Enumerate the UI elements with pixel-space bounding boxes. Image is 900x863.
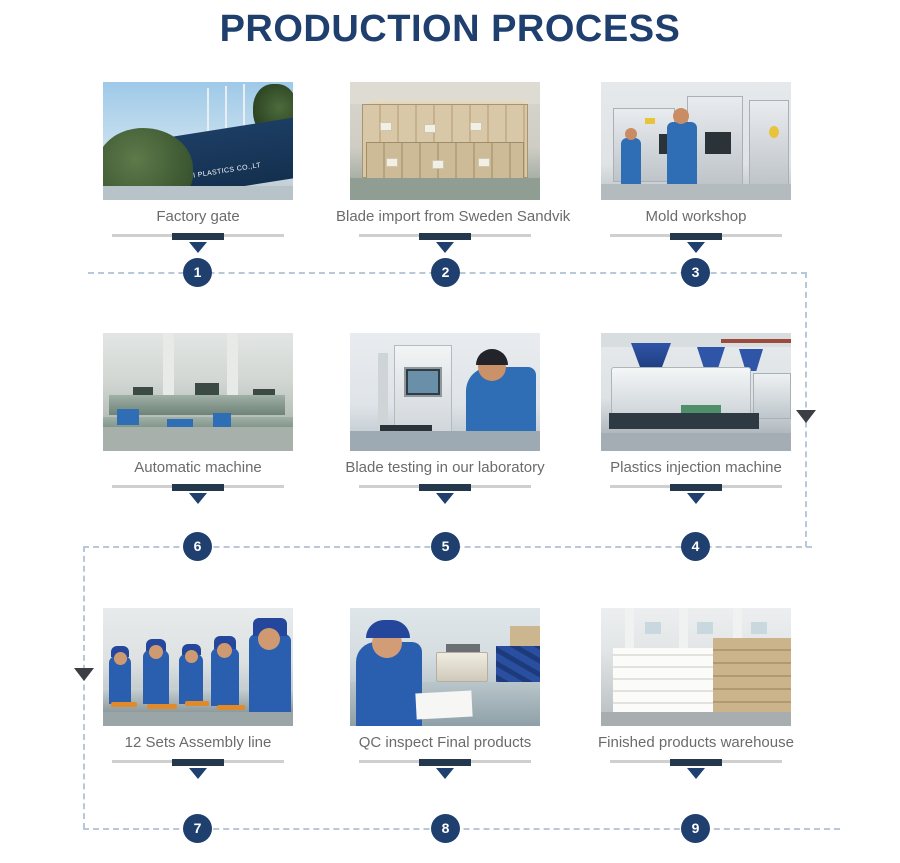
step-divider — [610, 234, 782, 237]
pillar-shape — [227, 333, 238, 403]
step-caption: Plastics injection machine — [587, 459, 805, 476]
step-badge-8[interactable]: 8 — [431, 814, 460, 843]
process-step-3[interactable]: Mold workshop — [601, 82, 791, 253]
carton-stack-shape — [613, 648, 713, 714]
step-divider — [359, 234, 531, 237]
desk-shape — [350, 431, 540, 451]
assembly-line-photo — [103, 608, 293, 726]
process-step-8[interactable]: QC inspect Final products — [350, 608, 540, 779]
process-row-1: NINGBO JIA LI PLASTICS CO.,LT Factory ga… — [0, 82, 900, 272]
step-divider — [112, 760, 284, 763]
step-arrow-icon — [436, 768, 454, 779]
inspection-form-shape — [415, 691, 472, 720]
product-part-shape — [217, 705, 245, 710]
crate-label — [380, 122, 392, 131]
crate-label — [478, 158, 490, 167]
floor-shape — [601, 433, 791, 451]
step-divider — [359, 485, 531, 488]
worker-hair-shape — [476, 349, 508, 365]
step-arrow-icon — [687, 768, 705, 779]
window-shape — [645, 622, 661, 634]
product-part-shape — [111, 702, 137, 707]
step-divider-marker — [670, 484, 722, 491]
automatic-machine-photo — [103, 333, 293, 451]
worker-head-shape — [149, 645, 163, 659]
process-step-9[interactable]: Finished products warehouse — [601, 608, 791, 779]
step-badge-2[interactable]: 2 — [431, 258, 460, 287]
step-arrow-icon — [436, 493, 454, 504]
process-step-1[interactable]: NINGBO JIA LI PLASTICS CO.,LT Factory ga… — [103, 82, 293, 253]
step-arrow-icon — [687, 493, 705, 504]
step-divider-marker — [172, 759, 224, 766]
floor-shape — [601, 184, 791, 200]
page-title: PRODUCTION PROCESS — [0, 8, 900, 51]
step-divider-marker — [670, 759, 722, 766]
weighing-scale-shape — [436, 652, 488, 682]
step-divider — [610, 760, 782, 763]
step-badge-3[interactable]: 3 — [681, 258, 710, 287]
step-divider-marker — [419, 759, 471, 766]
step-divider — [112, 485, 284, 488]
process-step-4[interactable]: Plastics injection machine — [601, 333, 791, 504]
worker-head-shape — [673, 108, 689, 124]
step-badge-1[interactable]: 1 — [183, 258, 212, 287]
parts-bin-shape — [213, 413, 231, 427]
product-part-shape — [185, 701, 209, 706]
floor-shape — [601, 712, 791, 726]
step-arrow-icon — [189, 493, 207, 504]
window-shape — [697, 622, 713, 634]
step-badge-6[interactable]: 6 — [183, 532, 212, 561]
crate-label — [424, 124, 436, 133]
step-arrow-icon — [687, 242, 705, 253]
process-step-2[interactable]: Blade import from Sweden Sandvik — [350, 82, 540, 253]
ceiling-beam-shape — [721, 339, 791, 343]
mold-workshop-photo — [601, 82, 791, 200]
process-step-5[interactable]: Blade testing in our laboratory — [350, 333, 540, 504]
process-row-3: 12 Sets Assembly line QC inspect Final p… — [0, 608, 900, 798]
worker-head-shape — [185, 650, 198, 663]
step-arrow-icon — [189, 242, 207, 253]
step-divider-marker — [172, 484, 224, 491]
step-divider-marker — [670, 233, 722, 240]
process-step-6[interactable]: Automatic machine — [103, 333, 293, 504]
step-badge-7[interactable]: 7 — [183, 814, 212, 843]
worker-shape — [667, 122, 697, 186]
worker-head-shape — [114, 652, 127, 665]
step-caption: Blade testing in our laboratory — [336, 459, 554, 476]
step-divider-marker — [172, 233, 224, 240]
window-shape — [751, 622, 767, 634]
floor-shape — [103, 712, 293, 726]
floor-shape — [350, 178, 540, 200]
worker-cap-shape — [366, 620, 410, 638]
product-part-shape — [147, 704, 177, 709]
floor-shape — [103, 427, 293, 451]
blade-import-crates-photo — [350, 82, 540, 200]
instrument-screen-display — [408, 371, 438, 393]
blade-testing-laboratory-photo — [350, 333, 540, 451]
carton-stack-shape — [713, 638, 791, 714]
process-step-7[interactable]: 12 Sets Assembly line — [103, 608, 293, 779]
step-badge-5[interactable]: 5 — [431, 532, 460, 561]
step-caption: Factory gate — [103, 208, 293, 225]
step-badge-4[interactable]: 4 — [681, 532, 710, 561]
step-caption: Automatic machine — [103, 459, 293, 476]
step-caption: QC inspect Final products — [336, 734, 554, 751]
finished-products-warehouse-photo — [601, 608, 791, 726]
process-row-2: Automatic machine Blade testing in our l… — [0, 333, 900, 523]
worker-head-shape — [258, 628, 280, 650]
step-caption: Mold workshop — [601, 208, 791, 225]
step-caption: 12 Sets Assembly line — [103, 734, 293, 751]
parts-bin-shape — [117, 409, 139, 425]
step-divider — [112, 234, 284, 237]
plastics-injection-machine-photo — [601, 333, 791, 451]
worker-shape — [621, 138, 641, 186]
step-badge-9[interactable]: 9 — [681, 814, 710, 843]
step-caption: Blade import from Sweden Sandvik — [336, 208, 554, 225]
crate-label — [386, 158, 398, 167]
step-divider — [359, 760, 531, 763]
machine-accent — [769, 126, 779, 138]
step-divider-marker — [419, 233, 471, 240]
cnc-machine-shape — [749, 100, 789, 186]
pillar-shape — [679, 608, 688, 652]
ground-shape — [103, 186, 293, 200]
machine-screen — [705, 132, 731, 154]
step-arrow-icon — [189, 768, 207, 779]
factory-gate-photo: NINGBO JIA LI PLASTICS CO.,LT — [103, 82, 293, 200]
worker-head-shape — [217, 643, 232, 658]
crate-label — [432, 160, 444, 169]
qc-inspection-photo — [350, 608, 540, 726]
crate-label — [470, 122, 482, 131]
step-divider — [610, 485, 782, 488]
step-arrow-icon — [436, 242, 454, 253]
machine-base-shape — [609, 413, 759, 429]
step-caption: Finished products warehouse — [587, 734, 805, 751]
worker-head-shape — [625, 128, 637, 140]
machine-accent — [645, 118, 655, 124]
step-divider-marker — [419, 484, 471, 491]
